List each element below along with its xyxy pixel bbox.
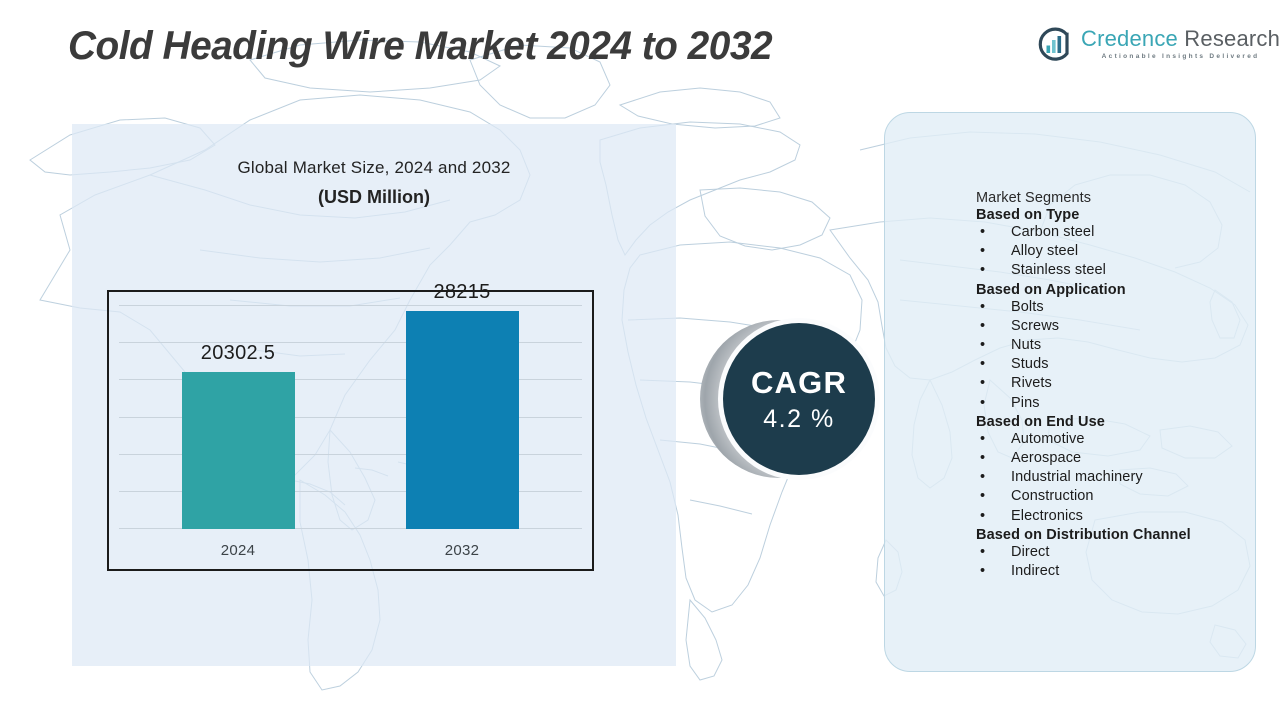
chart-bar [406, 311, 519, 529]
chart-heading-line2: (USD Million) [72, 187, 676, 208]
chart-bar [182, 372, 295, 529]
bullet-icon: • [976, 430, 1011, 449]
logo-name-part1: Credence [1081, 26, 1178, 51]
segment-item-label: Alloy steel [1011, 242, 1246, 261]
segment-list-item: •Studs [976, 355, 1246, 374]
bullet-icon: • [976, 374, 1011, 393]
segment-item-label: Nuts [1011, 336, 1246, 355]
chart-heading-line1: Global Market Size, 2024 and 2032 [72, 158, 676, 178]
chart-heading: Global Market Size, 2024 and 2032 (USD M… [72, 158, 676, 208]
logo-name: Credence Research [1081, 28, 1280, 50]
segment-item-label: Automotive [1011, 430, 1246, 449]
chart-bar-value-label: 20302.5 [158, 342, 318, 365]
segment-list-item: •Carbon steel [976, 223, 1246, 242]
bullet-icon: • [976, 468, 1011, 487]
segment-item-label: Indirect [1011, 562, 1246, 581]
segment-group-title: Based on Application [976, 282, 1246, 298]
segment-list-item: •Construction [976, 487, 1246, 506]
infographic-canvas: Cold Heading Wire Market 2024 to 2032 Cr… [0, 0, 1280, 720]
chart-bar-value-label: 28215 [382, 281, 542, 304]
cagr-label: CAGR [751, 367, 847, 398]
chart-category-label: 2032 [402, 542, 522, 559]
segment-list-item: •Rivets [976, 374, 1246, 393]
chart-category-label: 2024 [178, 542, 298, 559]
logo-name-part2: Research [1178, 26, 1280, 51]
segment-list-item: •Automotive [976, 430, 1246, 449]
segment-item-label: Industrial machinery [1011, 468, 1246, 487]
bullet-icon: • [976, 317, 1011, 336]
segment-list-item: •Screws [976, 317, 1246, 336]
segment-group-title: Based on Distribution Channel [976, 527, 1246, 543]
logo-tagline: Actionable Insights Delivered [1081, 54, 1280, 61]
bullet-icon: • [976, 562, 1011, 581]
bar-chart-circle-icon [1036, 26, 1072, 62]
segment-item-label: Aerospace [1011, 449, 1246, 468]
segment-group-title: Based on End Use [976, 414, 1246, 430]
segment-item-label: Studs [1011, 355, 1246, 374]
bullet-icon: • [976, 242, 1011, 261]
bullet-icon: • [976, 449, 1011, 468]
segment-list-item: •Pins [976, 394, 1246, 413]
segment-item-label: Pins [1011, 394, 1246, 413]
segment-list-item: •Indirect [976, 562, 1246, 581]
segment-list-item: •Industrial machinery [976, 468, 1246, 487]
bullet-icon: • [976, 298, 1011, 317]
segment-list-item: •Bolts [976, 298, 1246, 317]
bar-chart: 20302.52024282152032 [107, 290, 594, 571]
segment-list-item: •Electronics [976, 507, 1246, 526]
bullet-icon: • [976, 223, 1011, 242]
bullet-icon: • [976, 507, 1011, 526]
segment-item-label: Bolts [1011, 298, 1246, 317]
cagr-circle: CAGR 4.2 % [723, 323, 875, 475]
segment-list-item: •Aerospace [976, 449, 1246, 468]
segment-item-label: Rivets [1011, 374, 1246, 393]
segment-item-label: Screws [1011, 317, 1246, 336]
bullet-icon: • [976, 261, 1011, 280]
market-segments-list: Market Segments Based on Type•Carbon ste… [976, 190, 1246, 581]
brand-logo[interactable]: Credence Research Actionable Insights De… [1036, 26, 1280, 62]
bullet-icon: • [976, 543, 1011, 562]
segment-item-label: Carbon steel [1011, 223, 1246, 242]
bullet-icon: • [976, 355, 1011, 374]
logo-text: Credence Research Actionable Insights De… [1081, 28, 1280, 61]
page-title: Cold Heading Wire Market 2024 to 2032 [68, 24, 772, 69]
segment-list-item: •Nuts [976, 336, 1246, 355]
cagr-value: 4.2 % [763, 407, 834, 432]
segment-list-item: •Alloy steel [976, 242, 1246, 261]
segment-list-item: •Stainless steel [976, 261, 1246, 280]
segment-group-title: Based on Type [976, 207, 1246, 223]
chart-gridline [119, 305, 582, 306]
chart-plot-area: 20302.52024282152032 [109, 292, 592, 569]
bullet-icon: • [976, 336, 1011, 355]
segment-item-label: Electronics [1011, 507, 1246, 526]
segment-list-item: •Direct [976, 543, 1246, 562]
bullet-icon: • [976, 394, 1011, 413]
segment-item-label: Construction [1011, 487, 1246, 506]
segments-heading: Market Segments [976, 190, 1246, 206]
segment-item-label: Direct [1011, 543, 1246, 562]
segment-item-label: Stainless steel [1011, 261, 1246, 280]
bullet-icon: • [976, 487, 1011, 506]
cagr-badge: CAGR 4.2 % [700, 318, 900, 483]
